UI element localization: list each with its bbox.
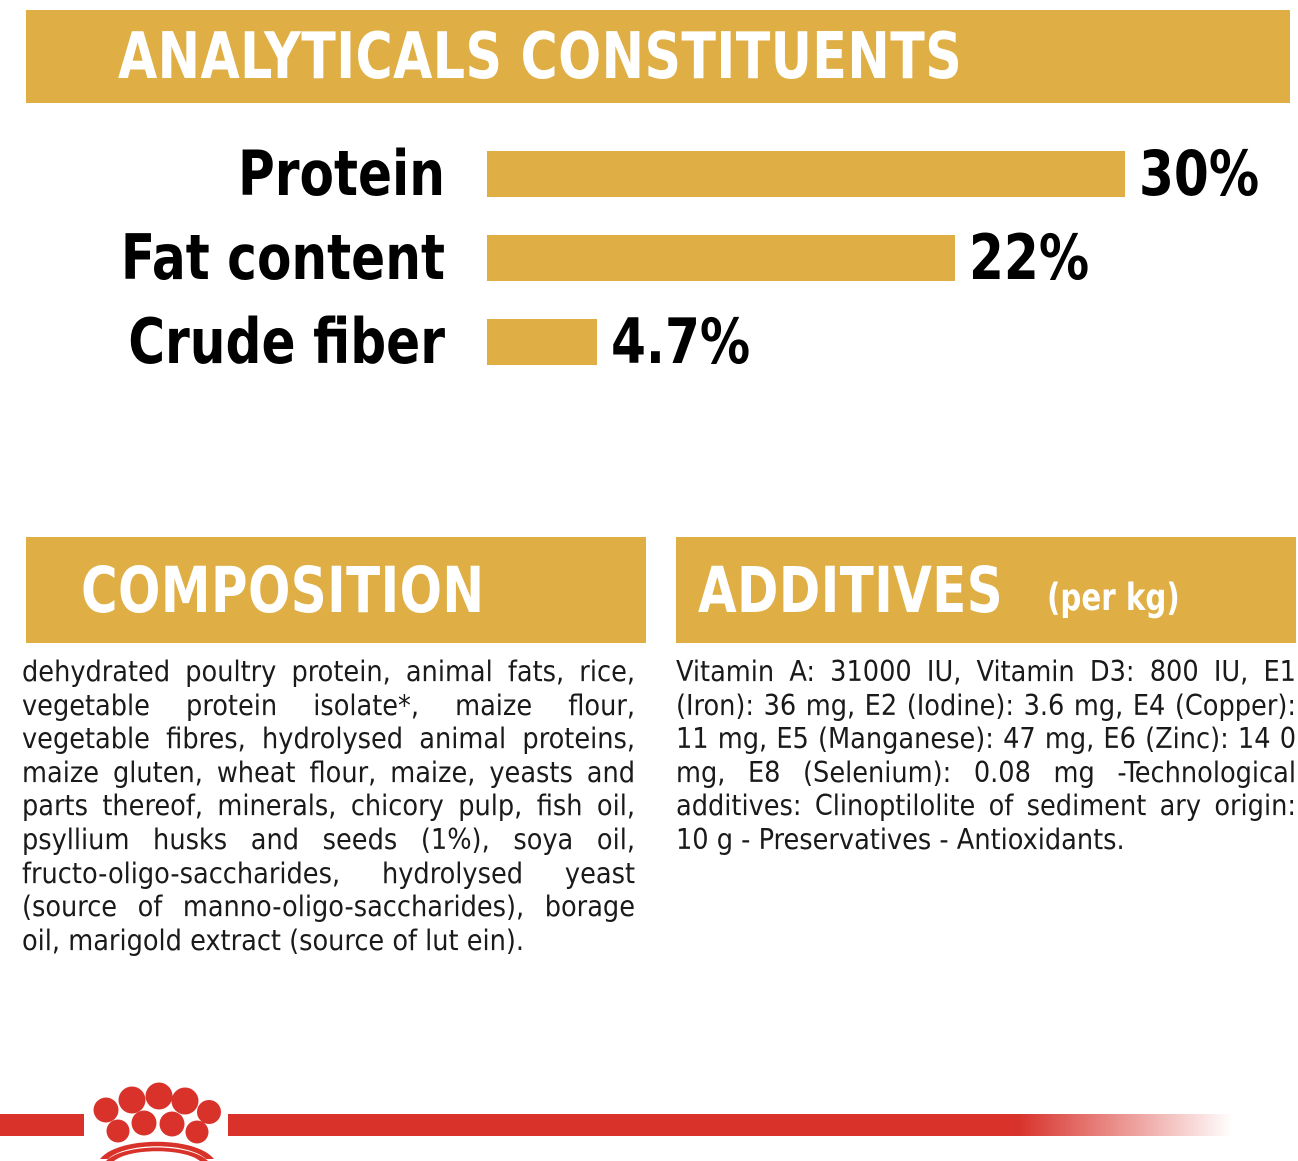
chart-bar-wrap: 22% (445, 227, 1298, 289)
footer-rule-left (0, 1114, 84, 1136)
chart-row: Protein 30% (0, 143, 1298, 205)
analyticals-constituents-title: ANALYTICALS CONSTITUENTS (118, 25, 962, 89)
composition-title: COMPOSITION (81, 559, 485, 622)
chart-label-protein: Protein (45, 143, 446, 205)
additives-text: Vitamin A: 31000 IU, Vitamin D3: 800 IU,… (676, 655, 1296, 857)
chart-label-crude-fiber: Crude fiber (45, 311, 446, 373)
chart-bar-wrap: 30% (445, 143, 1298, 205)
chart-bar-wrap: 4.7% (445, 311, 1298, 373)
composition-banner: COMPOSITION (26, 537, 646, 643)
chart-row: Fat content 22% (0, 227, 1298, 289)
composition-text: dehydrated poultry protein, animal fats,… (22, 655, 635, 957)
royal-canin-crown-logo (84, 1080, 230, 1161)
additives-title: ADDITIVES (698, 559, 1003, 622)
chart-row: Crude fiber 4.7% (0, 311, 1298, 373)
chart-bar-fat-content (487, 235, 955, 281)
footer-rule-right (228, 1114, 1298, 1136)
additives-banner: ADDITIVES (per kg) (676, 537, 1296, 643)
analyticals-constituents-banner: ANALYTICALS CONSTITUENTS (26, 10, 1290, 103)
chart-label-fat-content: Fat content (45, 227, 446, 289)
chart-value-fat-content: 22% (969, 227, 1089, 289)
additives-subtitle: (per kg) (1047, 579, 1180, 616)
chart-value-protein: 30% (1139, 143, 1259, 205)
chart-value-crude-fiber: 4.7% (611, 311, 750, 373)
analyticals-bar-chart: Protein 30% Fat content 22% Crude fiber … (0, 143, 1298, 388)
footer (0, 1080, 1298, 1161)
chart-bar-crude-fiber (487, 319, 597, 365)
chart-bar-protein (487, 151, 1125, 197)
